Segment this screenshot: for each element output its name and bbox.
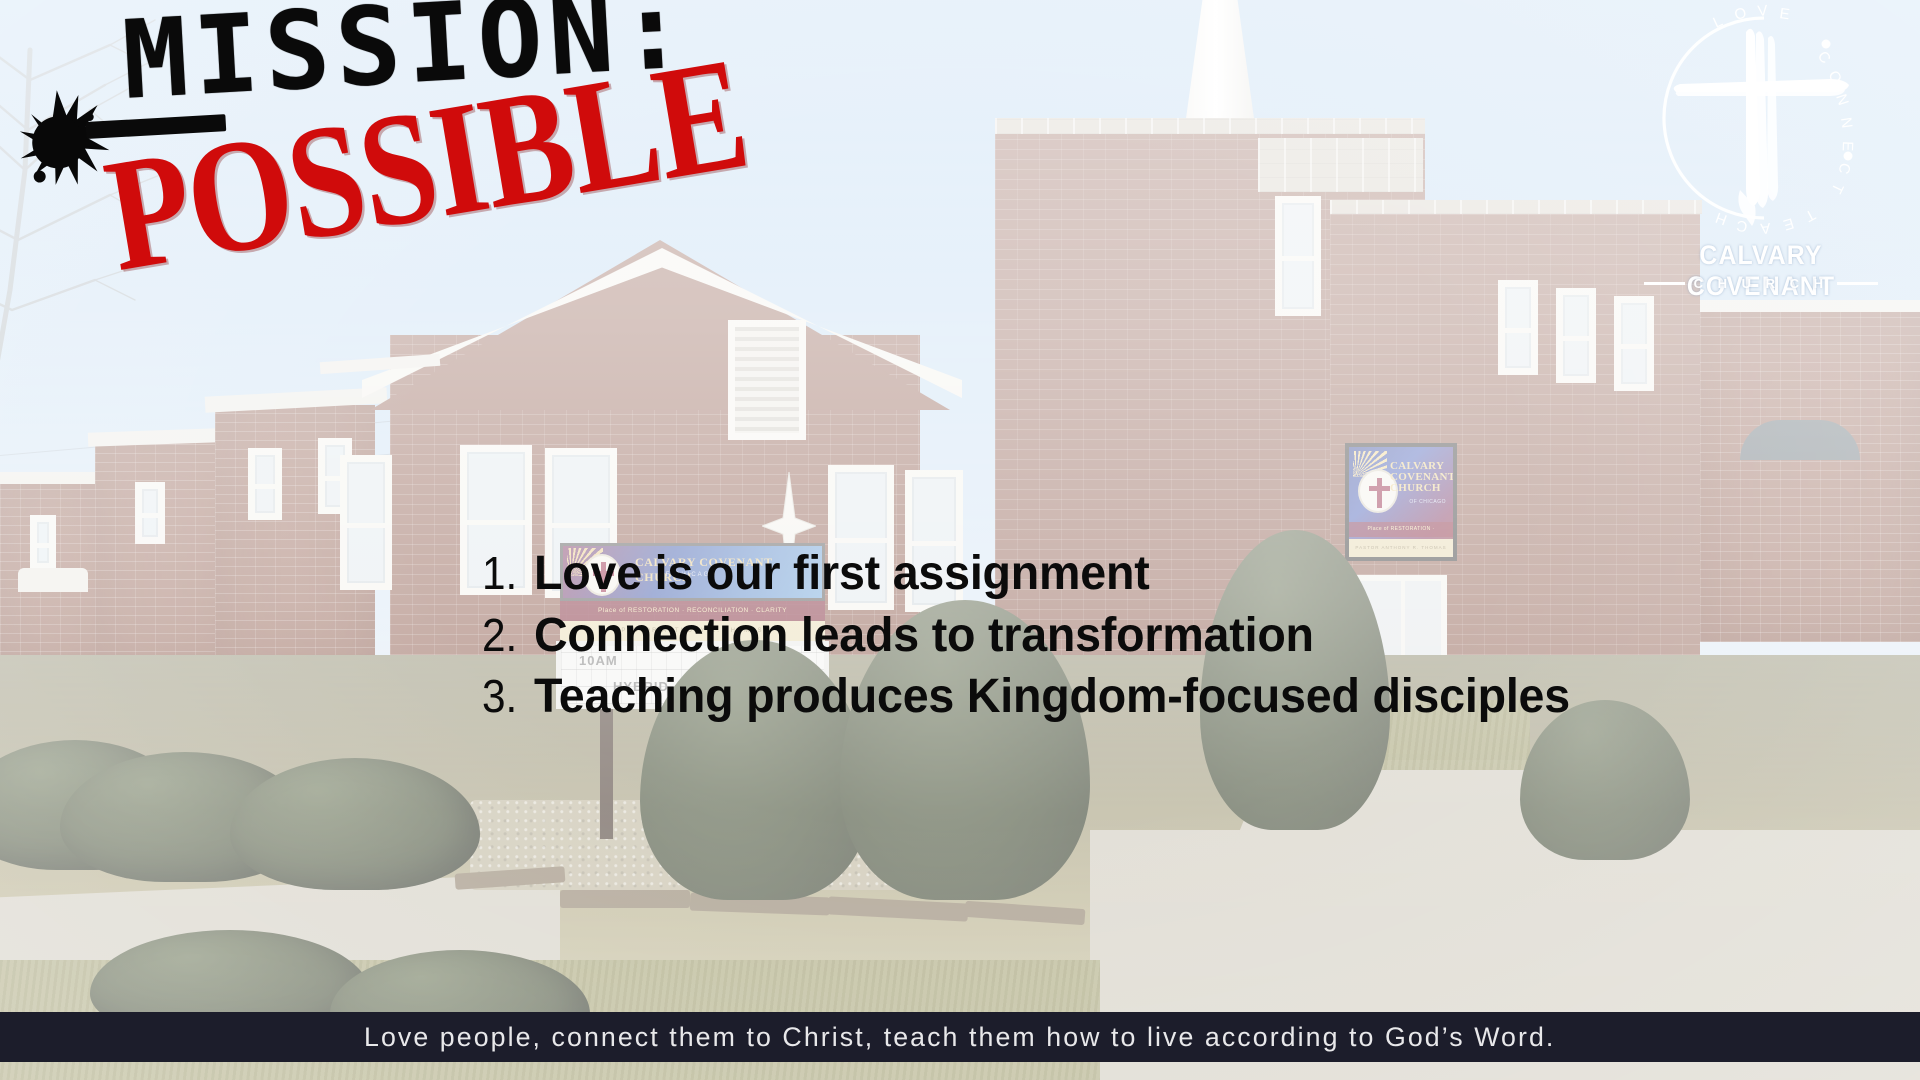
svg-text:E: E xyxy=(1839,141,1856,154)
list-item-text: Love is our first assignment xyxy=(534,545,1150,603)
svg-text:T: T xyxy=(1800,205,1818,225)
svg-text:E: E xyxy=(1779,214,1795,234)
list-item-text: Teaching produces Kingdom-focused discip… xyxy=(534,668,1570,726)
list-item-text: Connection leads to transformation xyxy=(534,607,1314,665)
svg-text:C: C xyxy=(1834,161,1854,178)
list-item-number: 3. xyxy=(482,669,530,724)
svg-text:C: C xyxy=(1814,48,1835,69)
mission-statement-bar: Love people, connect them to Christ, tea… xyxy=(0,1012,1920,1062)
mission-points-list: 1. Love is our first assignment 2. Conne… xyxy=(482,545,1782,730)
list-item: 1. Love is our first assignment xyxy=(482,545,1782,603)
list-item: 3. Teaching produces Kingdom-focused dis… xyxy=(482,668,1782,726)
svg-text:C: C xyxy=(1733,216,1748,234)
svg-text:V: V xyxy=(1757,4,1770,20)
list-item: 2. Connection leads to transformation xyxy=(482,607,1782,665)
brush-cross-icon: L O V E C O N N E C T T E A C H xyxy=(1636,4,1886,234)
logo-sub-row: C H U R C H xyxy=(1644,276,1878,291)
logo-org-name: CALVARY COVENANT xyxy=(1646,240,1876,302)
svg-text:E: E xyxy=(1778,5,1792,24)
logo-org-sub: C H U R C H xyxy=(1694,276,1829,291)
svg-text:L: L xyxy=(1711,12,1728,32)
logo-rule-right xyxy=(1837,282,1878,285)
mission-statement-text: Love people, connect them to Christ, tea… xyxy=(364,1022,1555,1053)
church-logo: L O V E C O N N E C T T E A C H CALVARY … xyxy=(1636,4,1886,304)
svg-text:T: T xyxy=(1827,180,1847,197)
svg-text:O: O xyxy=(1733,4,1751,24)
svg-text:N: N xyxy=(1837,116,1856,131)
logo-rule-left xyxy=(1644,282,1685,285)
list-item-number: 2. xyxy=(482,608,530,663)
svg-text:A: A xyxy=(1758,219,1771,234)
slide-canvas: CALVARY COVENANT CHURCH OF CHICAGO Place… xyxy=(0,0,1920,1080)
list-item-number: 1. xyxy=(482,546,530,601)
